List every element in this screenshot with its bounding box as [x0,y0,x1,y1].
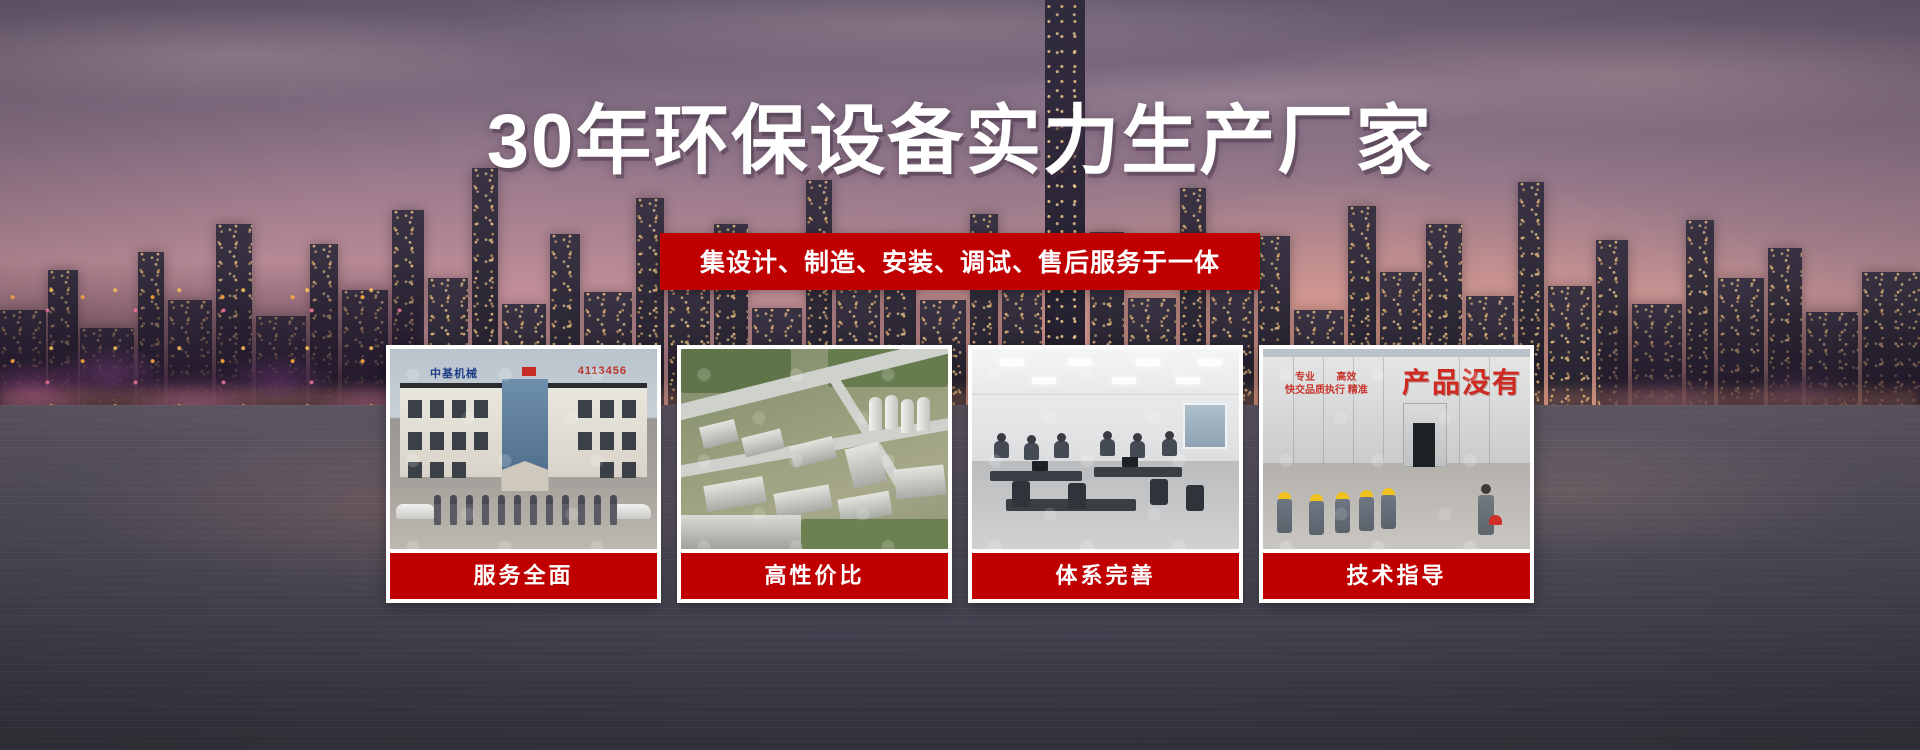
banner-content: 30年环保设备实力生产厂家 集设计、制造、安装、调试、售后服务于一体 [0,0,1920,750]
card-photo-big-sign: 产品没有 [1402,361,1522,401]
feature-card-list: 中基机械 4113456 [0,345,1920,603]
card-photo-sign: 中基机械 [430,365,478,381]
card-photo-phone: 4113456 [578,365,627,377]
feature-card[interactable]: 中基机械 4113456 [386,345,661,603]
feature-card[interactable]: 体系完善 [968,345,1243,603]
banner-subtitle-wrap: 集设计、制造、安装、调试、售后服务于一体 [0,233,1920,290]
card-photo: 产品没有 专业 快交品质 高效 执行 精准 [1263,349,1530,549]
card-label: 体系完善 [972,553,1239,599]
feature-card[interactable]: 产品没有 专业 快交品质 高效 执行 精准 [1259,345,1534,603]
hero-banner: 30年环保设备实力生产厂家 集设计、制造、安装、调试、售后服务于一体 [0,0,1920,750]
card-photo-small-sign3: 高效 [1336,372,1356,383]
card-label: 服务全面 [390,553,657,599]
card-photo-small-sign4: 执行 精准 [1325,385,1368,396]
card-label: 高性价比 [681,553,948,599]
card-label: 技术指导 [1263,553,1530,599]
feature-card[interactable]: 高性价比 [677,345,952,603]
banner-headline: 30年环保设备实力生产厂家 [0,104,1920,180]
card-photo-small-sign2: 快交品质 [1285,385,1325,396]
card-photo [972,349,1239,549]
card-photo: 中基机械 4113456 [390,349,657,549]
card-photo-small-sign: 专业 [1295,372,1315,383]
banner-subtitle: 集设计、制造、安装、调试、售后服务于一体 [660,233,1260,290]
card-photo [681,349,948,549]
